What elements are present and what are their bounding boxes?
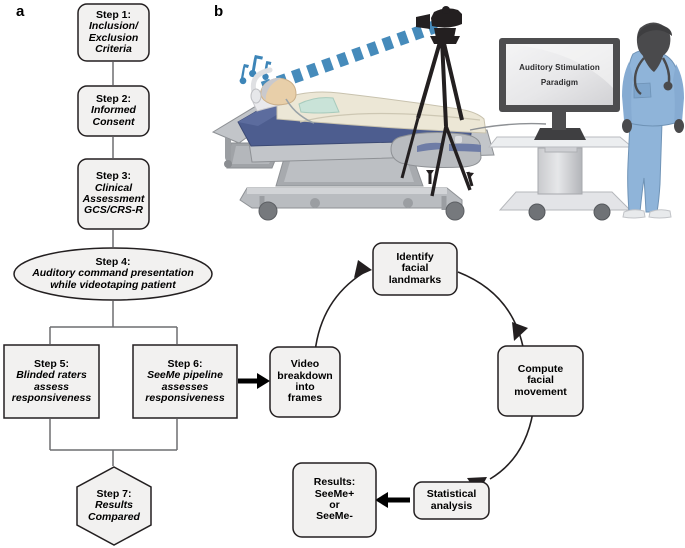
monitor-text-line1: Auditory Stimulation <box>506 60 613 75</box>
flow-node-step5[interactable]: Step 5: Blinded raters assess responsive… <box>3 344 100 419</box>
step4-shape <box>13 247 213 301</box>
results-shape <box>292 462 377 538</box>
monitor-text-line2: Paradigm <box>506 75 613 90</box>
pipeline-node-results[interactable]: Results: SeeMe+ or SeeMe- <box>292 462 377 538</box>
step5-shape <box>3 344 100 419</box>
pipeline-node-compute-movement[interactable]: Compute facial movement <box>497 345 584 417</box>
identify-landmarks-shape <box>372 242 458 296</box>
compute-movement-shape <box>497 345 584 417</box>
flow-node-step6[interactable]: Step 6: SeeMe pipeline assesses responsi… <box>132 344 238 419</box>
step6-shape <box>132 344 238 419</box>
arrow-stats-to-results <box>375 492 410 508</box>
pipeline-node-identify-landmarks[interactable]: Identify facial landmarks <box>372 242 458 296</box>
step2-shape <box>77 85 150 137</box>
step1-shape <box>77 3 150 62</box>
flow-node-step7[interactable]: Step 7: Results Compared <box>75 466 153 546</box>
flow-node-step2[interactable]: Step 2: Informed Consent <box>77 85 150 137</box>
step7-shape <box>75 466 153 546</box>
flow-node-step1[interactable]: Step 1: Inclusion/ Exclusion Criteria <box>77 3 150 62</box>
statistical-analysis-shape <box>413 481 490 520</box>
video-breakdown-shape <box>269 346 341 418</box>
arrow-step6-to-video <box>238 373 270 389</box>
flow-node-step4[interactable]: Step 4: Auditory command presentation wh… <box>13 247 213 301</box>
step3-shape <box>77 158 150 230</box>
figure-root: a b <box>0 0 685 548</box>
pipeline-node-statistical-analysis[interactable]: Statistical analysis <box>413 481 490 520</box>
monitor-screen-text: Auditory Stimulation Paradigm <box>506 60 613 90</box>
flow-node-step3[interactable]: Step 3: Clinical Assessment GCS/CRS-R <box>77 158 150 230</box>
pipeline-node-video-breakdown[interactable]: Video breakdown into frames <box>269 346 341 418</box>
